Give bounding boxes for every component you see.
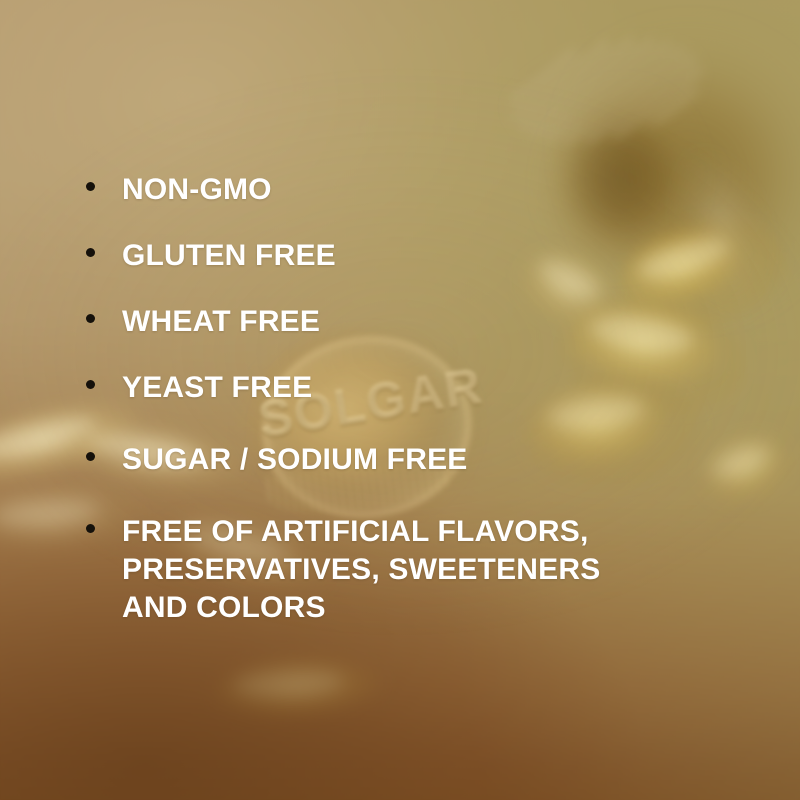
bullet-icon <box>86 380 95 389</box>
claim-item-free-of-artificial: FREE OF ARTIFICIAL FLAVORS, PRESERVATIVE… <box>86 513 600 627</box>
claim-item-gluten-free: GLUTEN FREE <box>86 237 336 275</box>
claims-list: NON-GMO GLUTEN FREE WHEAT FREE YEAST FRE… <box>0 0 800 800</box>
claim-item-yeast-free: YEAST FREE <box>86 369 312 407</box>
claim-label: NON-GMO <box>122 171 272 209</box>
claim-label: SUGAR / SODIUM FREE <box>122 441 468 479</box>
claim-item-wheat-free: WHEAT FREE <box>86 303 320 341</box>
bullet-icon <box>86 182 95 191</box>
claim-label: FREE OF ARTIFICIAL FLAVORS, PRESERVATIVE… <box>122 513 600 627</box>
bullet-icon <box>86 452 95 461</box>
claim-label: YEAST FREE <box>122 369 312 407</box>
claim-item-sugar-sodium-free: SUGAR / SODIUM FREE <box>86 441 468 479</box>
claim-item-non-gmo: NON-GMO <box>86 171 272 209</box>
bullet-icon <box>86 248 95 257</box>
product-attribute-claims-panel: SOLGAR NON-GMO GLUTEN FREE WHEAT FREE YE… <box>0 0 800 800</box>
claim-label: GLUTEN FREE <box>122 237 336 275</box>
claim-label: WHEAT FREE <box>122 303 320 341</box>
bullet-icon <box>86 314 95 323</box>
bullet-icon <box>86 524 95 533</box>
